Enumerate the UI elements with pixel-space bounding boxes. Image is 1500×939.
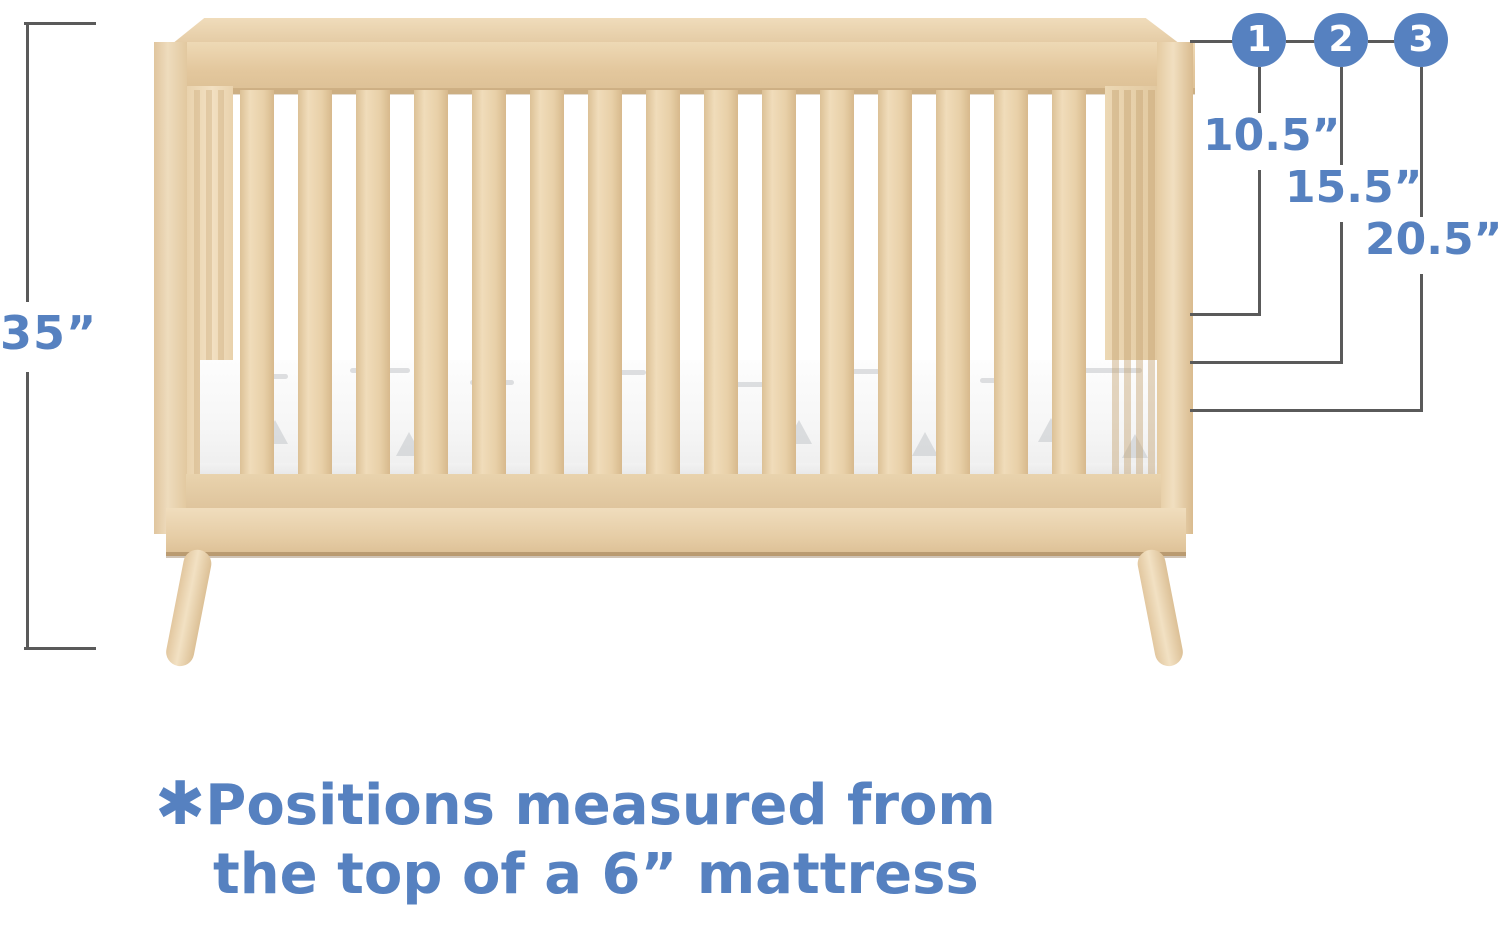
crib-slat xyxy=(530,90,564,490)
crib-perspective-slat xyxy=(1136,90,1143,490)
crib-top-rail-back xyxy=(172,18,1180,44)
leader-line-badge-3-to-label xyxy=(1420,67,1423,217)
position-badge-2[interactable]: 2 xyxy=(1314,13,1368,67)
crib-slat xyxy=(878,90,912,490)
badge-connector-1-2 xyxy=(1286,40,1316,43)
elbow-2-horizontal xyxy=(1190,361,1343,364)
height-dimension-bottom-cap xyxy=(24,647,96,650)
height-dimension-upper-line xyxy=(26,22,29,302)
height-dimension-lower-line xyxy=(26,372,29,650)
elbow-2-vertical xyxy=(1340,222,1343,364)
crib-slat xyxy=(936,90,970,490)
footnote-text: ✱Positions measured from the top of a 6”… xyxy=(155,768,1165,910)
crib-leg-right xyxy=(1135,547,1185,668)
crib-slat xyxy=(762,90,796,490)
crib-corner-post-left xyxy=(154,42,187,534)
crib-slat xyxy=(994,90,1028,490)
position-2-measurement: 15.5” xyxy=(1285,162,1422,213)
leader-line-badge-1-to-label xyxy=(1258,67,1261,113)
crib-leg-left xyxy=(164,547,214,668)
height-dimension-label: 35” xyxy=(0,306,120,360)
position-3-measurement: 20.5” xyxy=(1365,214,1500,265)
crib-slat xyxy=(414,90,448,490)
crib-slat xyxy=(472,90,506,490)
elbow-3-vertical xyxy=(1420,274,1423,412)
crib-perspective-slat xyxy=(1112,90,1119,490)
position-badge-3[interactable]: 3 xyxy=(1394,13,1448,67)
crib-top-rail-front xyxy=(160,42,1195,94)
crib-slat xyxy=(298,90,332,490)
footnote-line-1: ✱Positions measured from xyxy=(155,768,1165,841)
height-dimension-top-cap xyxy=(24,22,96,25)
position-badge-2-label: 2 xyxy=(1328,22,1353,58)
crib-corner-post-right xyxy=(1157,42,1193,534)
crib-base-skirt xyxy=(166,508,1186,556)
footnote-line-2: the top of a 6” mattress xyxy=(213,841,1165,909)
crib-slat xyxy=(240,90,274,490)
crib-slat xyxy=(704,90,738,490)
crib-illustration xyxy=(150,8,1200,688)
mattress-pattern-motif xyxy=(1080,368,1142,373)
crib-slat xyxy=(646,90,680,490)
position-badge-1-label: 1 xyxy=(1246,22,1271,58)
crib-base-shadow xyxy=(166,552,1186,558)
badge-connector-left xyxy=(1190,40,1234,43)
crib-perspective-slat xyxy=(1148,90,1155,490)
elbow-1-horizontal xyxy=(1190,313,1261,316)
footnote-line-1-text: Positions measured from xyxy=(205,773,995,838)
diagram-canvas: 35” xyxy=(0,0,1500,939)
elbow-3-horizontal xyxy=(1190,409,1423,412)
crib-slat xyxy=(356,90,390,490)
crib-perspective-slat xyxy=(1124,90,1131,490)
crib-slat xyxy=(588,90,622,490)
elbow-1-vertical xyxy=(1258,170,1261,316)
badge-connector-2-3 xyxy=(1368,40,1396,43)
crib-slat xyxy=(1052,90,1086,490)
leader-line-badge-2-to-label xyxy=(1340,67,1343,165)
crib-slat xyxy=(820,90,854,490)
mattress-pattern-motif xyxy=(912,432,938,456)
position-badge-1[interactable]: 1 xyxy=(1232,13,1286,67)
position-badge-3-label: 3 xyxy=(1408,22,1433,58)
position-1-measurement: 10.5” xyxy=(1203,110,1340,161)
asterisk-icon: ✱ xyxy=(155,769,205,839)
